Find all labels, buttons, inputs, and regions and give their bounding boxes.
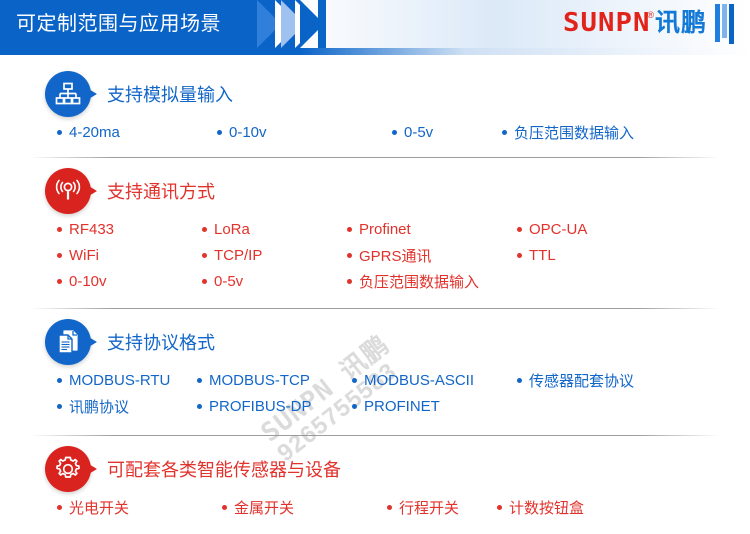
list-item-label: GPRS通讯 (359, 245, 432, 266)
section-header-analog: 支持模拟量输入 (45, 71, 750, 117)
list-item: 行程开关 (387, 497, 497, 518)
item-row: 讯鹏协议 PROFIBUS-DP PROFINET (57, 393, 750, 419)
gear-icon-glyph (54, 455, 82, 483)
section-title-communication: 支持通讯方式 (107, 178, 215, 204)
list-item: PROFIBUS-DP (197, 398, 352, 415)
list-item: 光电开关 (57, 497, 222, 518)
list-item: MODBUS-ASCII (352, 372, 517, 389)
list-item-label: Profinet (359, 221, 411, 238)
list-item: MODBUS-TCP (197, 372, 352, 389)
list-item: PROFINET (352, 398, 517, 415)
list-item-label: MODBUS-TCP (209, 372, 310, 389)
section-title-sensors: 可配套各类智能传感器与设备 (107, 456, 341, 482)
list-item-label: LoRa (214, 221, 250, 238)
bullet-icon (202, 253, 207, 258)
list-item-label: 0-5v (404, 124, 433, 141)
list-item: OPC-UA (517, 221, 587, 238)
header-bar-extension (318, 0, 326, 48)
list-item: GPRS通讯 (347, 245, 517, 266)
bullet-icon (57, 253, 62, 258)
page-title: 可定制范围与应用场景 (16, 0, 221, 48)
bullet-icon (517, 227, 522, 232)
list-item-label: TCP/IP (214, 247, 262, 264)
logo-bars-icon (713, 4, 734, 44)
list-item: 负压范围数据输入 (347, 271, 517, 292)
list-item-label: MODBUS-ASCII (364, 372, 474, 389)
item-row: RF433 LoRa Profinet OPC-UA (57, 216, 750, 242)
content-area: 支持模拟量输入 4-20ma 0-10v 0-5v 负压范围数据输入 (0, 71, 750, 520)
bullet-icon (57, 378, 62, 383)
list-item-label: OPC-UA (529, 221, 587, 238)
bullet-icon (347, 253, 352, 258)
bullet-icon (57, 404, 62, 409)
section-analog-input: 支持模拟量输入 4-20ma 0-10v 0-5v 负压范围数据输入 (0, 71, 750, 145)
section-items-sensors: 光电开关 金属开关 行程开关 计数按钮盒 (45, 492, 750, 520)
list-item: 讯鹏协议 (57, 396, 197, 417)
section-sensors: 可配套各类智能传感器与设备 光电开关 金属开关 行程开关 计数按钮盒 (0, 446, 750, 520)
list-item-label: RF433 (69, 221, 114, 238)
list-item-label: 传感器配套协议 (529, 370, 634, 391)
section-title-protocol: 支持协议格式 (107, 329, 215, 355)
list-item-label: 负压范围数据输入 (514, 122, 634, 143)
bullet-icon (222, 505, 227, 510)
list-item: TCP/IP (202, 247, 347, 264)
list-item: RF433 (57, 221, 202, 238)
item-row: WiFi TCP/IP GPRS通讯 TTL (57, 242, 750, 268)
section-title-analog: 支持模拟量输入 (107, 81, 233, 107)
list-item: 0-5v (392, 124, 502, 141)
section-protocol: 支持协议格式 MODBUS-RTU MODBUS-TCP MODBUS-ASCI… (0, 319, 750, 419)
section-items-protocol: MODBUS-RTU MODBUS-TCP MODBUS-ASCII 传感器配套… (45, 365, 750, 419)
item-row: 光电开关 金属开关 行程开关 计数按钮盒 (57, 494, 750, 520)
bullet-icon (57, 279, 62, 284)
section-items-communication: RF433 LoRa Profinet OPC-UA WiFi TCP/IP G… (45, 214, 750, 294)
section-items-analog: 4-20ma 0-10v 0-5v 负压范围数据输入 (45, 117, 750, 145)
bullet-icon (347, 227, 352, 232)
list-item-label: 0-5v (214, 273, 243, 290)
bullet-icon (197, 378, 202, 383)
bullet-icon (347, 279, 352, 284)
list-item-label: 4-20ma (69, 124, 120, 141)
list-item: 4-20ma (57, 124, 217, 141)
list-item: 负压范围数据输入 (502, 122, 634, 143)
section-header-sensors: 可配套各类智能传感器与设备 (45, 446, 750, 492)
list-item: 传感器配套协议 (517, 370, 634, 391)
list-item-label: 0-10v (69, 273, 107, 290)
bullet-icon (57, 505, 62, 510)
section-header-communication: 支持通讯方式 (45, 168, 750, 214)
sitemap-icon-glyph (55, 82, 81, 106)
list-item-label: PROFINET (364, 398, 440, 415)
brand-logo: SUNPN ® 讯鹏 (563, 8, 734, 44)
list-item-label: 计数按钮盒 (509, 497, 584, 518)
bullet-icon (352, 378, 357, 383)
bullet-icon (497, 505, 502, 510)
documents-icon (45, 319, 91, 365)
list-item: Profinet (347, 221, 517, 238)
list-item-label: 金属开关 (234, 497, 294, 518)
list-item-label: MODBUS-RTU (69, 372, 170, 389)
bullet-icon (202, 227, 207, 232)
bullet-icon (352, 404, 357, 409)
list-item: 计数按钮盒 (497, 497, 584, 518)
bullet-icon (57, 227, 62, 232)
bullet-icon (502, 130, 507, 135)
bullet-icon (57, 130, 62, 135)
bullet-icon (197, 404, 202, 409)
logo-brand-text: SUNPN (563, 8, 650, 38)
list-item-label: PROFIBUS-DP (209, 398, 312, 415)
list-item-label: 行程开关 (399, 497, 459, 518)
list-item: TTL (517, 247, 556, 264)
list-item: WiFi (57, 247, 202, 264)
list-item-label: WiFi (69, 247, 99, 264)
list-item: MODBUS-RTU (57, 372, 197, 389)
list-item-label: 0-10v (229, 124, 267, 141)
list-item-label: 负压范围数据输入 (359, 271, 479, 292)
bullet-icon (517, 253, 522, 258)
list-item-label: TTL (529, 247, 556, 264)
section-communication: 支持通讯方式 RF433 LoRa Profinet OPC-UA WiFi T… (0, 168, 750, 294)
bullet-icon (517, 378, 522, 383)
section-divider (30, 308, 720, 309)
list-item-label: 讯鹏协议 (69, 396, 129, 417)
gear-icon (45, 446, 91, 492)
section-divider (30, 157, 720, 158)
list-item: LoRa (202, 221, 347, 238)
list-item: 0-5v (202, 273, 347, 290)
bullet-icon (387, 505, 392, 510)
bullet-icon (217, 130, 222, 135)
section-divider (30, 435, 720, 436)
documents-icon-glyph (55, 329, 81, 355)
list-item-label: 光电开关 (69, 497, 129, 518)
logo-brand-cn-text: 讯鹏 (655, 8, 707, 38)
section-header-protocol: 支持协议格式 (45, 319, 750, 365)
list-item: 金属开关 (222, 497, 387, 518)
wireless-broadcast-icon-glyph (53, 178, 83, 204)
item-row: 4-20ma 0-10v 0-5v 负压范围数据输入 (57, 119, 750, 145)
page-header: 可定制范围与应用场景 SUNPN ® 讯鹏 (0, 0, 750, 55)
item-row: MODBUS-RTU MODBUS-TCP MODBUS-ASCII 传感器配套… (57, 367, 750, 393)
sitemap-icon (45, 71, 91, 117)
list-item: 0-10v (57, 273, 202, 290)
bullet-icon (202, 279, 207, 284)
header-underline (0, 48, 750, 55)
item-row: 0-10v 0-5v 负压范围数据输入 (57, 268, 750, 294)
bullet-icon (392, 130, 397, 135)
wireless-broadcast-icon (45, 168, 91, 214)
list-item: 0-10v (217, 124, 392, 141)
